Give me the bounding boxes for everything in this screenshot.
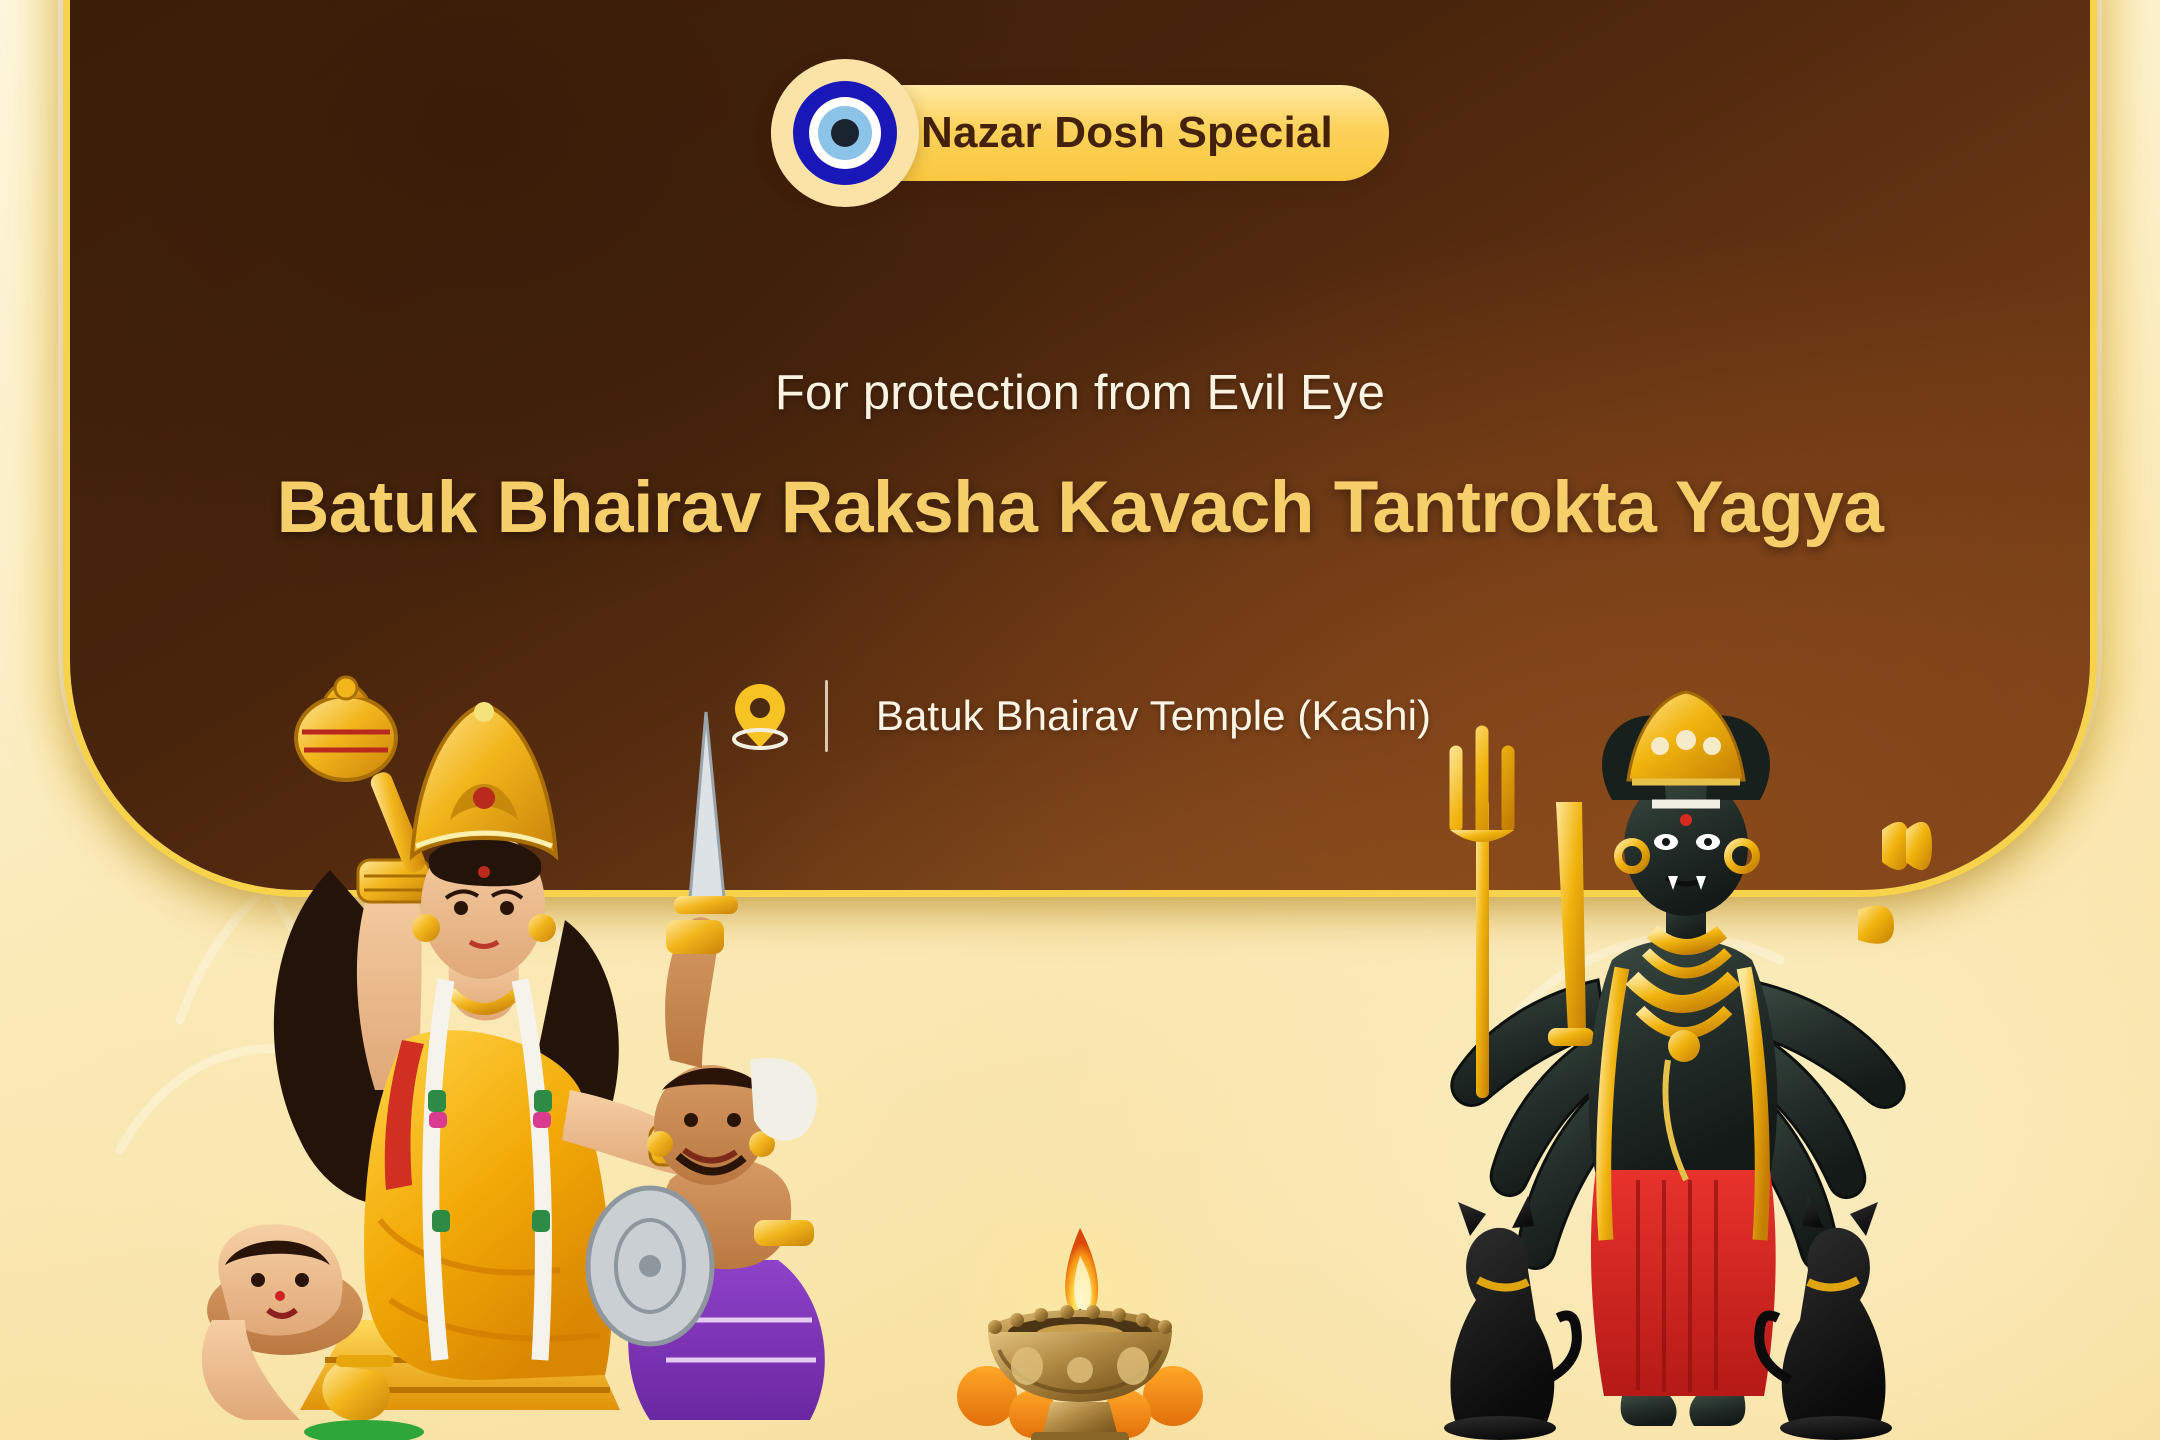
location-divider xyxy=(825,680,828,752)
location-name: Batuk Bhairav Temple (Kashi) xyxy=(876,692,1431,740)
poster-title: Batuk Bhairav Raksha Kavach Tantrokta Ya… xyxy=(0,466,2160,549)
evil-eye-pupil xyxy=(831,119,859,147)
evil-eye-light-blue-ring xyxy=(818,106,872,160)
evil-eye-blue-ring xyxy=(793,81,897,185)
promo-poster: Nazar Dosh Special For protection from E… xyxy=(0,0,2160,1440)
bhairav-illustration xyxy=(1360,680,2000,1440)
badge[interactable]: Nazar Dosh Special xyxy=(771,85,1389,181)
evil-eye-icon xyxy=(771,59,919,207)
map-pin-icon xyxy=(729,680,791,752)
oil-lamp-illustration xyxy=(915,1200,1245,1440)
evil-eye-white-ring xyxy=(809,97,881,169)
location-row: Batuk Bhairav Temple (Kashi) xyxy=(0,680,2160,752)
poster-subtitle: For protection from Evil Eye xyxy=(0,365,2160,421)
badge-label: Nazar Dosh Special xyxy=(921,111,1333,155)
